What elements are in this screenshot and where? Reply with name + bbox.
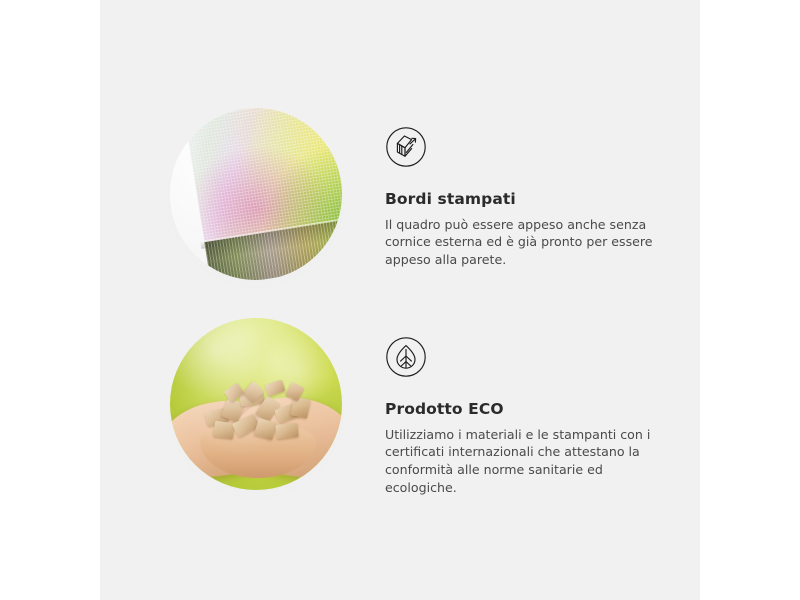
feature-row: Bordi stampati Il quadro può essere appe… <box>100 108 700 278</box>
feature-title: Bordi stampati <box>385 190 670 209</box>
printed-edges-icon <box>385 126 427 168</box>
canvas-print-surface <box>183 108 342 280</box>
circular-image-frame <box>170 318 342 490</box>
feature-description: Utilizziamo i materiali e le stampanti c… <box>385 426 660 498</box>
leaf-icon <box>385 336 427 378</box>
feature-text-block: Prodotto ECO Utilizziamo i materiali e l… <box>385 336 670 497</box>
feature-title: Prodotto ECO <box>385 400 670 419</box>
eco-hands-woodchips-photo <box>170 318 342 490</box>
feature-text-block: Bordi stampati Il quadro può essere appe… <box>385 126 670 269</box>
photo-highlight <box>170 318 342 490</box>
canvas-corner-photo <box>170 108 342 280</box>
content-canvas: Bordi stampati Il quadro può essere appe… <box>100 0 700 600</box>
feature-description: Il quadro può essere appeso anche senza … <box>385 216 660 270</box>
circular-image-frame <box>170 108 342 280</box>
feature-image-eco-product <box>170 318 342 490</box>
product-features-page: Bordi stampati Il quadro può essere appe… <box>0 0 800 600</box>
feature-image-printed-edges <box>170 108 342 280</box>
feature-row: Prodotto ECO Utilizziamo i materiali e l… <box>100 318 700 488</box>
